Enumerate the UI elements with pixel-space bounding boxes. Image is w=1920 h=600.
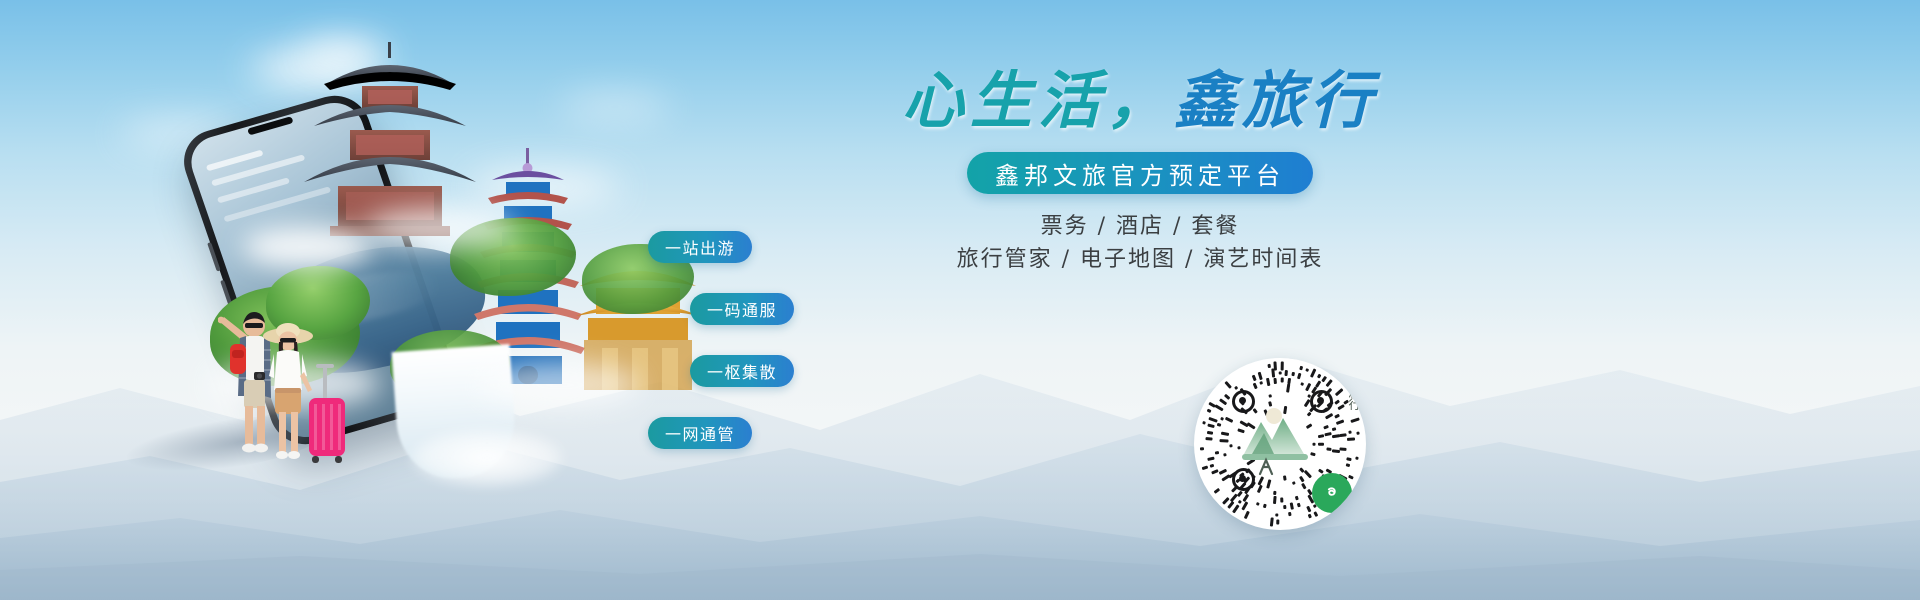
qr-dash (1317, 373, 1321, 378)
official-platform-badge: 鑫邦文旅官方预定平台 (967, 152, 1313, 194)
qr-dash (1299, 476, 1304, 482)
qr-dash (1287, 378, 1290, 384)
qr-dash (1258, 372, 1263, 380)
qr-dash (1263, 503, 1266, 508)
qr-dash (1295, 495, 1299, 500)
mist-icon (480, 362, 640, 408)
qr-dash (1223, 454, 1226, 457)
qr-dash (1302, 483, 1307, 489)
qr-dash (1291, 372, 1294, 376)
qr-dash (1251, 375, 1256, 382)
qr-dash (1203, 422, 1207, 425)
qr-brand-text: 鑫旅行 (1347, 374, 1360, 410)
qr-dash (1225, 417, 1233, 423)
suitcase-icon (306, 364, 348, 468)
qr-dash (1339, 434, 1346, 438)
qr-dash (1274, 361, 1277, 370)
qr-dash (1347, 437, 1355, 440)
qr-dash (1214, 488, 1220, 494)
qr-dash (1224, 394, 1230, 400)
mist-icon (364, 208, 514, 248)
qr-dash (1207, 457, 1214, 461)
qr-dash (1258, 476, 1264, 485)
traveler-couple-icon (196, 300, 336, 470)
headline-part-blue: 鑫旅行 (1174, 70, 1378, 132)
qr-dash (1355, 457, 1358, 460)
qr-dash (1347, 457, 1352, 461)
qr-dash (1200, 447, 1204, 450)
qr-dash (1221, 432, 1229, 436)
qr-dash (1292, 481, 1295, 485)
qr-dash (1281, 498, 1284, 503)
feature-pill-yishujisan[interactable]: 一枢集散 (690, 355, 794, 387)
qr-dash (1286, 384, 1290, 393)
qr-dash (1336, 419, 1344, 424)
qr-dash (1305, 383, 1311, 391)
mountain-logo-icon (1234, 402, 1326, 476)
qr-dash (1224, 381, 1231, 389)
qr-dash (1266, 377, 1270, 385)
feature-pill-yiwangtongguan[interactable]: 一网通管 (648, 417, 752, 449)
qr-dash (1267, 364, 1270, 368)
qr-dash (1257, 484, 1263, 492)
headline-part-teal: 心生活， (902, 70, 1174, 132)
feature-pill-yimatongfu[interactable]: 一码通服 (690, 293, 794, 325)
qr-dash (1242, 501, 1249, 510)
qr-dash (1219, 439, 1228, 442)
qr-dash (1219, 469, 1227, 475)
qr-dash (1273, 377, 1276, 383)
waterfall-spray (412, 430, 562, 486)
qr-dash (1348, 475, 1354, 479)
promo-text-block: 心生活， 鑫旅行 鑫邦文旅官方预定平台 票务 / 酒店 / 套餐 旅行管家 / … (820, 70, 1460, 276)
qr-dash (1326, 448, 1331, 451)
qr-dash (1314, 511, 1319, 517)
qr-dash (1300, 382, 1303, 386)
qr-dash (1308, 514, 1312, 519)
qr-dash (1297, 503, 1301, 508)
qr-dash (1220, 417, 1224, 421)
qr-dash (1290, 503, 1294, 510)
qr-dash (1280, 361, 1283, 370)
qr-dash (1305, 369, 1308, 373)
qr-dash (1321, 376, 1327, 382)
qr-dash (1206, 438, 1213, 441)
qr-dash (1230, 445, 1233, 448)
qr-dash (1326, 379, 1333, 387)
qr-disc: 鑫旅行 (1194, 358, 1366, 530)
qr-dash (1267, 479, 1272, 488)
qr-dash (1276, 513, 1279, 516)
qr-dash (1337, 404, 1344, 410)
qr-dash (1206, 409, 1211, 413)
qr-dash (1284, 505, 1287, 509)
qr-dash (1268, 395, 1271, 398)
qr-dash (1208, 424, 1215, 428)
qr-dash (1289, 512, 1292, 516)
qr-dash (1256, 502, 1259, 506)
wechat-miniprogram-icon (1312, 473, 1352, 513)
qr-dash (1253, 382, 1258, 389)
qr-dash (1350, 417, 1359, 422)
qr-dash (1237, 490, 1243, 496)
travel-promo-banner: 一站出游 一码通服 一枢集散 一网通管 心生活， 鑫旅行 鑫邦文旅官方预定平台 … (0, 0, 1920, 600)
qr-dash (1232, 504, 1239, 513)
qr-dash (1285, 370, 1288, 376)
qr-code[interactable]: 鑫旅行 (1194, 358, 1366, 530)
qr-dash (1332, 427, 1337, 431)
services-line-1: 票务 / 酒店 / 套餐 (820, 210, 1460, 243)
page-title: 心生活， 鑫旅行 (820, 70, 1460, 132)
qr-dash (1238, 500, 1242, 504)
badge-row: 鑫邦文旅官方预定平台 (820, 132, 1460, 194)
qr-dash (1334, 388, 1342, 396)
qr-dash (1356, 431, 1359, 434)
qr-dash (1273, 490, 1276, 494)
qr-dash (1315, 380, 1321, 387)
qr-dash (1222, 497, 1229, 505)
qr-dash (1334, 399, 1340, 404)
qr-dash (1210, 464, 1215, 468)
mist-icon (242, 226, 372, 268)
qr-dash (1244, 511, 1250, 519)
qr-dash (1280, 378, 1283, 383)
qr-dash (1274, 496, 1277, 504)
qr-dash (1227, 501, 1234, 509)
qr-dash (1215, 451, 1219, 454)
qr-dash (1217, 423, 1222, 427)
qr-dash (1278, 371, 1281, 374)
qr-dash (1277, 520, 1280, 525)
qr-dash (1348, 431, 1351, 434)
qr-dash (1207, 431, 1213, 435)
feature-pill-yizhanchuyou[interactable]: 一站出游 (648, 231, 752, 263)
qr-dash (1209, 417, 1218, 422)
qr-dash (1346, 463, 1351, 467)
qr-dash (1334, 413, 1340, 418)
qr-dash (1307, 505, 1312, 512)
qr-dash (1297, 372, 1301, 378)
qr-dash (1211, 469, 1218, 474)
services-list: 票务 / 酒店 / 套餐 旅行管家 / 电子地图 / 演艺时间表 (820, 210, 1460, 276)
qr-dash (1340, 448, 1347, 451)
qr-dash (1299, 366, 1303, 371)
qr-dash (1208, 402, 1215, 408)
qr-dash (1234, 386, 1238, 390)
qr-dash (1202, 466, 1209, 470)
qr-dash (1260, 381, 1263, 385)
qr-dash (1310, 368, 1316, 377)
qr-dash (1219, 399, 1227, 406)
services-line-2: 旅行管家 / 电子地图 / 演艺时间表 (820, 243, 1460, 276)
qr-dash (1270, 517, 1274, 526)
